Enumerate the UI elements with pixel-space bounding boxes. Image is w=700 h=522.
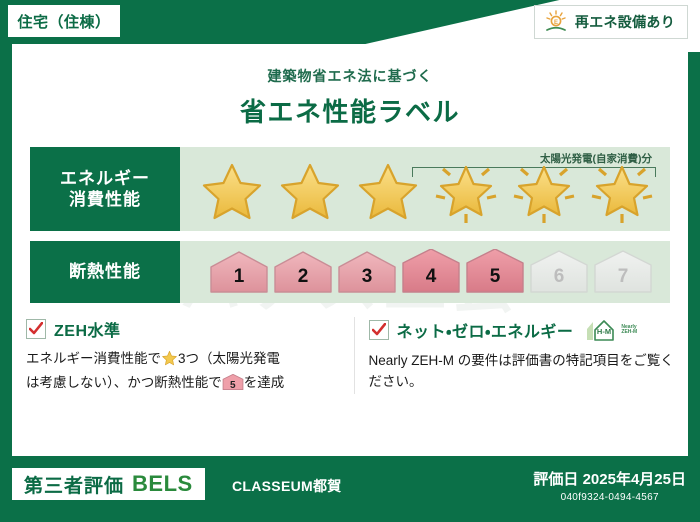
zeh-text-part1: エネルギー消費性能で	[26, 351, 161, 366]
energy-label-line2: 消費性能	[69, 189, 141, 210]
insulation-badge-inline: 5	[222, 374, 244, 391]
renewable-badge-label: 再エネ設備あり	[575, 12, 675, 32]
bels-label-en: BELS	[132, 471, 193, 497]
svg-text:E: E	[554, 20, 558, 26]
insulation-level-badge: 5	[464, 249, 526, 295]
bels-label-ja: 第三者評価	[24, 471, 124, 498]
rating-rows: エネルギー 消費性能 太陽光発電(自家消費)分	[30, 147, 670, 303]
bels-energy-label: 住宅（住棟） E 再エネ設備あり パナス工芸 建築物省エネ法に基づく	[0, 0, 700, 522]
insulation-label-text: 断熱性能	[69, 261, 141, 282]
label-card: パナス工芸 建築物省エネ法に基づく 省エネ性能ラベル エネルギー 消費性能 太陽…	[12, 44, 688, 456]
zeh-standard-block: ZEH水準 エネルギー消費性能で3つ（太陽光発電は考慮しない）、かつ断熱性能で5…	[26, 317, 344, 394]
insulation-level-badge: 2	[272, 249, 334, 295]
star-icon-inline	[161, 349, 178, 373]
zeh-standard-header: ZEH水準	[26, 317, 332, 341]
heading-subtitle: 建築物省エネ法に基づく	[12, 66, 688, 86]
net-zero-energy-description: Nearly ZEH-M の要件は評価書の特記項目をご覧ください。	[369, 351, 675, 393]
sun-icon: E	[543, 10, 569, 34]
insulation-performance-label: 断熱性能	[30, 241, 180, 303]
energy-performance-row: エネルギー 消費性能 太陽光発電(自家消費)分	[30, 147, 670, 231]
net-zero-energy-block: ネット・ゼロ・エネルギー H-M Nearly ZEH-M Nearly	[354, 317, 675, 394]
insulation-level-badge: 3	[336, 249, 398, 295]
building-type-label: 住宅（住棟）	[17, 11, 110, 32]
insulation-level-value: 3	[336, 266, 398, 288]
svg-text:H-M: H-M	[597, 327, 611, 336]
zeh-standard-title: ZEH水準	[54, 317, 121, 341]
star-icon	[272, 151, 348, 227]
insulation-level-badge: 1	[208, 249, 270, 295]
zeh-text-part2: は考慮しない）、かつ断熱性能で	[26, 375, 222, 390]
net-zero-energy-title: ネット・ゼロ・エネルギー	[397, 318, 574, 342]
insulation-level-value: 4	[400, 266, 462, 288]
star-solar-icon	[506, 151, 582, 227]
star-rating	[180, 147, 670, 231]
energy-performance-body: 太陽光発電(自家消費)分	[180, 147, 670, 231]
insulation-performance-row: 断熱性能	[30, 241, 670, 303]
net-zero-energy-header: ネット・ゼロ・エネルギー H-M Nearly ZEH-M	[369, 317, 675, 343]
footer-bar: 第三者評価 BELS CLASSEUM都賀 評価日 2025年4月25日 040…	[0, 456, 700, 522]
evaluation-date: 評価日 2025年4月25日	[533, 468, 686, 489]
star-solar-icon	[428, 151, 504, 227]
heading-block: 建築物省エネ法に基づく 省エネ性能ラベル	[12, 44, 688, 129]
zeh-standard-description: エネルギー消費性能で3つ（太陽光発電は考慮しない）、かつ断熱性能で5を達成	[26, 349, 332, 394]
bels-certification-box: 第三者評価 BELS	[12, 468, 205, 500]
insulation-performance-body: 1 2 3	[180, 241, 670, 303]
evaluation-uid: 040f9324-0494-4567	[533, 492, 686, 503]
insulation-level-value: 1	[208, 266, 270, 288]
insulation-level-value: 2	[272, 266, 334, 288]
page-title: 省エネ性能ラベル	[12, 92, 688, 129]
star-icon	[194, 151, 270, 227]
insulation-badge-inline-value: 5	[222, 378, 244, 394]
zeh-m-logo-icon: H-M Nearly ZEH-M	[585, 317, 637, 343]
renewable-equipment-badge: E 再エネ設備あり	[534, 5, 688, 39]
zeh-m-logo-sub2: ZEH-M	[621, 330, 637, 336]
star-solar-icon	[584, 151, 660, 227]
check-icon	[26, 319, 46, 339]
insulation-level-value: 6	[528, 266, 590, 288]
building-type-chip: 住宅（住棟）	[8, 5, 120, 37]
info-section: ZEH水準 エネルギー消費性能で3つ（太陽光発電は考慮しない）、かつ断熱性能で5…	[26, 317, 674, 394]
insulation-level-scale: 1 2 3	[180, 241, 670, 303]
insulation-level-badge: 6	[528, 249, 590, 295]
property-name: CLASSEUM都賀	[232, 476, 342, 496]
energy-label-line1: エネルギー	[60, 168, 150, 189]
insulation-level-value: 7	[592, 266, 654, 288]
zeh-text-part3: を達成	[244, 375, 285, 390]
check-icon	[369, 320, 389, 340]
zeh-text-star-count: 3つ（太陽光発電	[178, 351, 280, 366]
star-icon	[350, 151, 426, 227]
energy-performance-label: エネルギー 消費性能	[30, 147, 180, 231]
evaluation-meta: 評価日 2025年4月25日 040f9324-0494-4567	[533, 468, 686, 503]
insulation-level-badge: 7	[592, 249, 654, 295]
insulation-level-badge: 4	[400, 249, 462, 295]
insulation-level-value: 5	[464, 266, 526, 288]
